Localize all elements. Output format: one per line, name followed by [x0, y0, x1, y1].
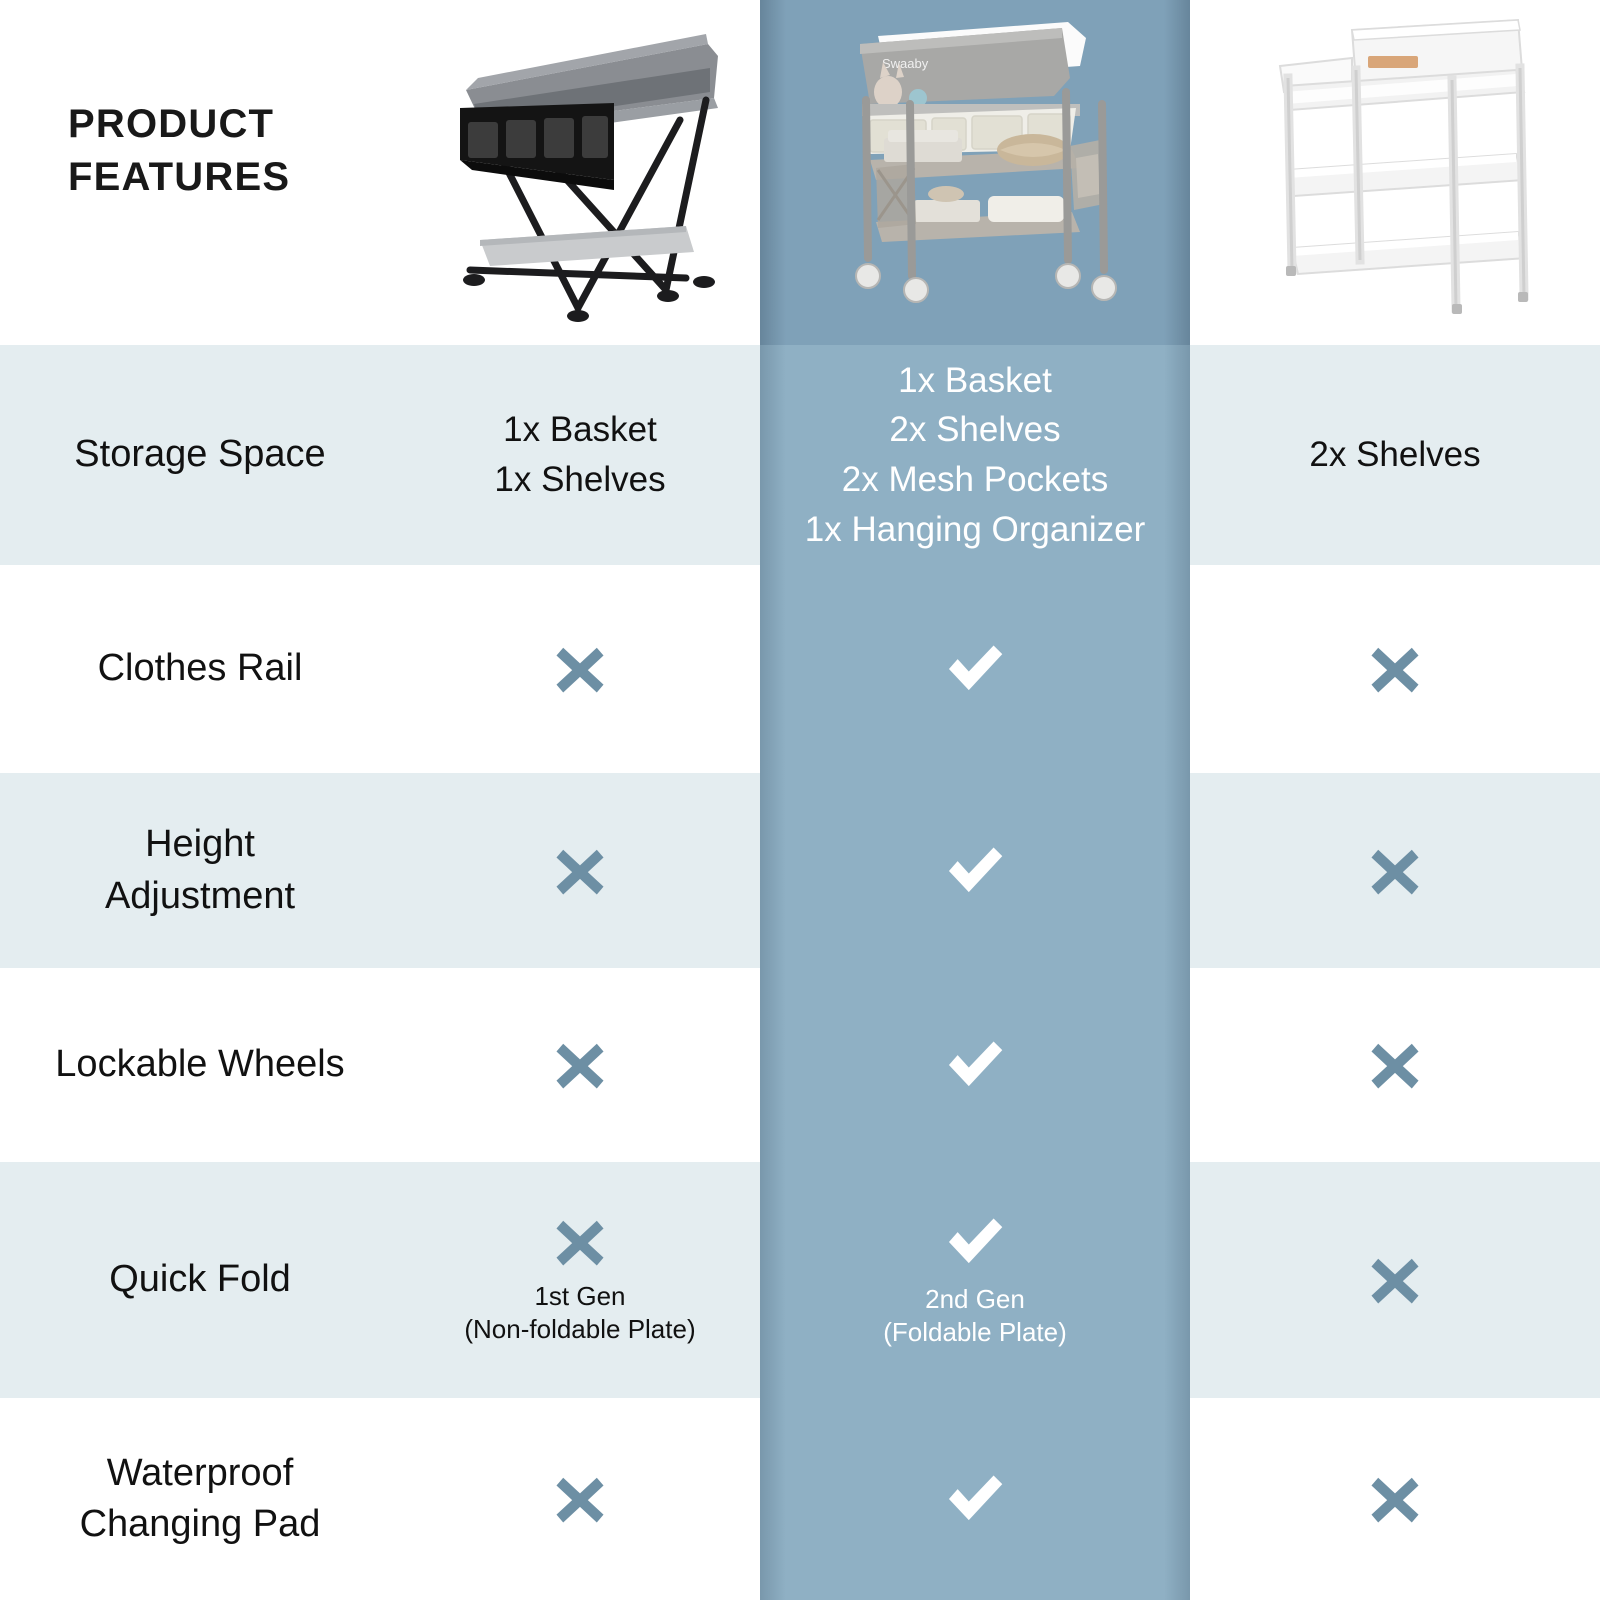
value-cell: [760, 1398, 1190, 1600]
check-icon: [944, 1211, 1006, 1273]
cross-icon: [552, 843, 608, 899]
table-row: Storage Space1x Basket 1x Shelves1x Bask…: [0, 345, 1600, 565]
value-cell: 1x Basket 2x Shelves 2x Mesh Pockets 1x …: [760, 345, 1190, 565]
value-cell: 2x Shelves: [1190, 345, 1600, 565]
cross-icon: [1367, 1252, 1423, 1308]
table-header: PRODUCT FEATURES: [0, 0, 1600, 345]
feature-label: Waterproof Changing Pad: [80, 1448, 321, 1551]
feature-label-cell: Waterproof Changing Pad: [0, 1398, 400, 1600]
check-icon: [944, 840, 1006, 902]
value-cell: [400, 968, 760, 1162]
value-note: 2nd Gen (Foldable Plate): [883, 1283, 1067, 1350]
table-row: Lockable Wheels: [0, 968, 1600, 1162]
value-cell: [400, 565, 760, 773]
cross-icon: [552, 1214, 608, 1270]
check-icon: [944, 638, 1006, 700]
feature-label-cell: Quick Fold: [0, 1162, 400, 1398]
table-row: Waterproof Changing Pad: [0, 1398, 1600, 1600]
product-image-gray-folding-table: [418, 8, 748, 338]
feature-label-cell: Lockable Wheels: [0, 968, 400, 1162]
value-cell: 1st Gen (Non-foldable Plate): [400, 1162, 760, 1398]
value-cell: [1190, 1398, 1600, 1600]
value-cell: [400, 773, 760, 968]
feature-label: Storage Space: [74, 429, 325, 480]
cross-icon: [1367, 641, 1423, 697]
value-note: 1st Gen (Non-foldable Plate): [464, 1280, 695, 1347]
feature-label: Clothes Rail: [98, 643, 303, 694]
feature-label-cell: Storage Space: [0, 345, 400, 565]
cross-icon: [1367, 1471, 1423, 1527]
check-icon: [944, 1034, 1006, 1096]
comparison-table: PRODUCT FEATURES: [0, 0, 1600, 1600]
page-title: PRODUCT FEATURES: [68, 98, 448, 204]
product-brand-text: Swaaby: [882, 56, 929, 71]
table-row: Height Adjustment: [0, 773, 1600, 968]
feature-label-cell: Clothes Rail: [0, 565, 400, 773]
value-cell: [760, 968, 1190, 1162]
cross-icon: [1367, 843, 1423, 899]
cross-icon: [552, 641, 608, 697]
feature-label: Height Adjustment: [105, 819, 295, 922]
cross-icon: [552, 1471, 608, 1527]
value-cell: [760, 565, 1190, 773]
value-text: 2x Shelves: [1309, 430, 1480, 480]
value-text: 1x Basket 2x Shelves 2x Mesh Pockets 1x …: [805, 356, 1145, 555]
value-cell: [1190, 968, 1600, 1162]
value-cell: 2nd Gen (Foldable Plate): [760, 1162, 1190, 1398]
check-icon: [944, 1468, 1006, 1530]
feature-label-cell: Height Adjustment: [0, 773, 400, 968]
feature-label: Quick Fold: [109, 1254, 291, 1305]
product-image-white-wood-table: [1228, 8, 1538, 338]
cross-icon: [552, 1037, 608, 1093]
product-image-swaaby-table: Swaaby: [818, 8, 1128, 338]
value-cell: 1x Basket 1x Shelves: [400, 345, 760, 565]
feature-label: Lockable Wheels: [55, 1039, 344, 1090]
value-cell: [400, 1398, 760, 1600]
value-cell: [760, 773, 1190, 968]
cross-icon: [1367, 1037, 1423, 1093]
value-cell: [1190, 1162, 1600, 1398]
value-cell: [1190, 565, 1600, 773]
value-text: 1x Basket 1x Shelves: [494, 405, 665, 504]
table-row: Clothes Rail: [0, 565, 1600, 773]
table-row: Quick Fold1st Gen (Non-foldable Plate)2n…: [0, 1162, 1600, 1398]
value-cell: [1190, 773, 1600, 968]
